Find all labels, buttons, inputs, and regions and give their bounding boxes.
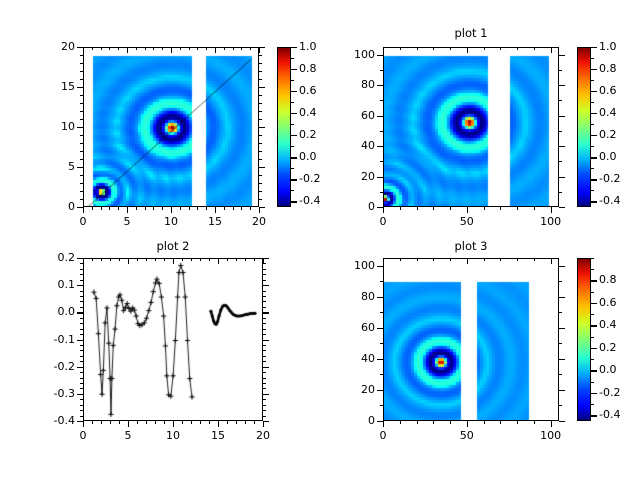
axis-tick	[80, 151, 83, 152]
axis-tick	[80, 410, 83, 411]
axis-tick	[80, 350, 83, 351]
colorbar-tick-label: -0.2	[599, 172, 620, 185]
axis-tick	[400, 47, 401, 50]
axis-tick	[119, 421, 120, 424]
axis-tick	[380, 281, 383, 282]
axis-tick	[591, 113, 594, 114]
axis-tick	[591, 258, 594, 259]
axis-tick	[517, 421, 518, 424]
axis-tick	[591, 280, 594, 281]
axis-tick	[146, 421, 147, 424]
axis-tick	[259, 143, 262, 144]
axis-tick	[209, 258, 210, 261]
axis-tick	[259, 151, 262, 152]
axis-tick	[263, 416, 266, 417]
axis-tick	[380, 100, 383, 101]
colorbar-tick-label: 0.8	[599, 273, 617, 286]
axis-tick	[80, 71, 83, 72]
colorbar-tick-label: 0.0	[299, 150, 317, 163]
axis-tick	[263, 383, 266, 384]
axis-tick	[291, 157, 294, 158]
axis-tick	[380, 131, 383, 132]
axis-tick	[101, 207, 102, 210]
axis-tick	[291, 190, 294, 191]
y-tick-label: 60	[331, 109, 375, 122]
x-tick-label: 0	[363, 429, 403, 442]
axis-tick	[259, 175, 262, 176]
axis-tick	[80, 111, 83, 112]
axis-tick	[433, 47, 434, 50]
axis-tick	[263, 410, 266, 411]
axis-tick	[80, 191, 83, 192]
axis-tick	[559, 116, 565, 117]
axis-tick	[263, 345, 266, 346]
axis-tick	[500, 207, 501, 210]
plot1-title: plot 1	[383, 26, 559, 40]
axis-tick	[80, 103, 83, 104]
axis-tick	[109, 47, 110, 50]
axis-tick	[236, 421, 237, 424]
axis-tick	[162, 47, 163, 50]
colorbar-tick-label: 0.4	[299, 106, 317, 119]
axis-tick	[218, 421, 219, 427]
axis-tick	[559, 374, 562, 375]
axis-tick	[171, 47, 172, 53]
axis-tick	[259, 95, 262, 96]
axis-tick	[591, 58, 594, 59]
plot3-axes[interactable]	[383, 258, 559, 421]
axis-tick	[83, 421, 84, 427]
axis-tick	[254, 421, 255, 424]
axis-tick	[83, 258, 84, 264]
axis-tick	[450, 47, 451, 50]
x-tick-label: 0	[63, 429, 103, 442]
axis-tick	[559, 192, 562, 193]
x-tick-label: 5	[108, 429, 148, 442]
axis-tick	[77, 207, 83, 208]
axis-tick	[484, 421, 485, 424]
axis-tick	[145, 47, 146, 50]
y-tick-label: 15	[31, 80, 75, 93]
axis-tick	[145, 207, 146, 210]
axis-tick	[80, 143, 83, 144]
axis-tick	[110, 258, 111, 261]
axis-tick	[377, 390, 383, 391]
axis-tick	[559, 100, 562, 101]
panel-plot0: 0510152005101520 -0.4-0.20.00.20.40.60.8…	[0, 0, 320, 240]
axis-tick	[484, 47, 485, 50]
axis-tick	[450, 207, 451, 210]
axis-tick	[559, 297, 565, 298]
axis-tick	[109, 207, 110, 210]
colorbar-tick-label: 0.8	[299, 62, 317, 75]
colorbar-tick-label: -0.2	[599, 386, 620, 399]
axis-tick	[263, 378, 266, 379]
axis-tick	[591, 292, 594, 293]
y-tick-label: -0.2	[31, 360, 75, 373]
x-tick-label: 20	[239, 215, 279, 228]
axis-tick	[146, 258, 147, 261]
axis-tick	[259, 103, 262, 104]
axis-tick	[380, 405, 383, 406]
plot3-heatmap-image	[384, 259, 559, 421]
axis-tick	[263, 405, 266, 406]
axis-tick	[559, 390, 565, 391]
axis-tick	[119, 258, 120, 261]
colorbar-tick-label: 0.2	[299, 128, 317, 141]
axis-tick	[591, 69, 594, 70]
axis-tick	[128, 421, 129, 427]
colorbar-tick-label: 0.6	[599, 296, 617, 309]
y-tick-label: 20	[31, 40, 75, 53]
axis-tick	[591, 146, 594, 147]
axis-tick	[377, 55, 383, 56]
axis-tick	[80, 280, 83, 281]
axis-tick	[80, 345, 83, 346]
axis-tick	[127, 207, 128, 213]
axis-tick	[591, 135, 594, 136]
axis-tick	[263, 350, 266, 351]
axis-tick	[551, 258, 552, 264]
axis-tick	[263, 280, 266, 281]
axis-tick	[263, 372, 266, 373]
y-tick-label: 80	[331, 78, 375, 91]
axis-tick	[591, 404, 594, 405]
axis-tick	[263, 258, 269, 259]
axis-tick	[259, 167, 265, 168]
y-tick-label: 80	[331, 290, 375, 303]
plot0-colorbar[interactable]	[277, 47, 291, 207]
axis-tick	[591, 190, 594, 191]
axis-tick	[591, 303, 594, 304]
axis-tick	[263, 307, 266, 308]
axis-tick	[500, 258, 501, 261]
axis-tick	[224, 207, 225, 210]
axis-tick	[291, 58, 294, 59]
axis-tick	[259, 79, 262, 80]
axis-tick	[450, 258, 451, 261]
axis-tick	[559, 207, 565, 208]
axis-tick	[80, 334, 83, 335]
axis-tick	[233, 207, 234, 210]
plot1-axes[interactable]	[383, 47, 559, 207]
axis-tick	[101, 258, 102, 261]
y-tick-label: -0.3	[31, 387, 75, 400]
x-tick-label: 50	[447, 429, 487, 442]
axis-tick	[245, 421, 246, 424]
axis-tick	[591, 314, 594, 315]
colorbar-tick-label: -0.4	[599, 194, 620, 207]
axis-tick	[233, 47, 234, 50]
axis-tick	[263, 291, 266, 292]
axis-tick	[197, 47, 198, 50]
axis-tick	[153, 47, 154, 50]
axis-tick	[259, 55, 262, 56]
axis-tick	[259, 87, 265, 88]
axis-tick	[189, 47, 190, 50]
axis-tick	[80, 405, 83, 406]
axis-tick	[236, 258, 237, 261]
axis-tick	[559, 312, 562, 313]
axis-tick	[180, 47, 181, 50]
axis-tick	[263, 323, 266, 324]
axis-tick	[377, 297, 383, 298]
plot0-axes[interactable]	[83, 47, 259, 207]
axis-tick	[417, 421, 418, 424]
x-tick-label: 15	[198, 429, 238, 442]
axis-tick	[80, 159, 83, 160]
plot3-title: plot 3	[383, 239, 559, 253]
axis-tick	[80, 378, 83, 379]
axis-tick	[137, 258, 138, 261]
axis-tick	[591, 124, 594, 125]
axis-tick	[263, 269, 266, 270]
axis-tick	[155, 258, 156, 261]
axis-tick	[551, 421, 552, 427]
axis-tick	[227, 258, 228, 261]
axis-tick	[92, 258, 93, 261]
axis-tick	[383, 207, 384, 213]
axis-tick	[263, 274, 266, 275]
axis-tick	[259, 47, 265, 48]
axis-tick	[259, 111, 262, 112]
plot3-colorbar[interactable]	[577, 258, 591, 421]
axis-tick	[383, 47, 384, 53]
y-tick-label: 100	[331, 48, 375, 61]
axis-tick	[263, 399, 266, 400]
figure-canvas: 0510152005101520 -0.4-0.20.00.20.40.60.8…	[0, 0, 640, 480]
axis-tick	[80, 372, 83, 373]
axis-tick	[534, 421, 535, 424]
colorbar-tick-label: -0.4	[599, 408, 620, 421]
axis-tick	[591, 337, 594, 338]
plot2-axes[interactable]	[83, 258, 263, 421]
axis-tick	[591, 168, 594, 169]
axis-tick	[559, 266, 565, 267]
axis-tick	[164, 258, 165, 261]
axis-tick	[206, 207, 207, 210]
axis-tick	[484, 258, 485, 261]
axis-tick	[80, 361, 83, 362]
colorbar-tick-label: 0.6	[299, 84, 317, 97]
axis-tick	[559, 405, 562, 406]
y-tick-label: 100	[331, 259, 375, 272]
x-tick-label: 0	[363, 215, 403, 228]
axis-tick	[559, 85, 565, 86]
axis-tick	[291, 102, 294, 103]
axis-tick	[380, 343, 383, 344]
axis-tick	[80, 199, 83, 200]
x-tick-label: 50	[447, 215, 487, 228]
axis-tick	[291, 47, 294, 48]
axis-tick	[591, 102, 594, 103]
axis-tick	[80, 269, 83, 270]
axis-tick	[377, 146, 383, 147]
axis-tick	[263, 329, 266, 330]
axis-tick	[291, 179, 294, 180]
axis-tick	[263, 285, 269, 286]
axis-tick	[433, 421, 434, 424]
plot2-title: plot 2	[83, 239, 263, 253]
colorbar-tick-label: 0.0	[599, 150, 617, 163]
axis-tick	[291, 201, 294, 202]
axis-tick	[534, 47, 535, 50]
axis-tick	[377, 359, 383, 360]
axis-tick	[80, 388, 83, 389]
axis-tick	[263, 388, 266, 389]
axis-tick	[551, 207, 552, 213]
axis-tick	[383, 421, 384, 427]
y-tick-label: 0	[31, 200, 75, 213]
axis-tick	[591, 157, 594, 158]
axis-tick	[450, 421, 451, 424]
axis-tick	[263, 394, 269, 395]
axis-tick	[400, 258, 401, 261]
colorbar-tick-label: 0.0	[599, 363, 617, 376]
colorbar-tick-label: 0.2	[599, 341, 617, 354]
axis-tick	[162, 207, 163, 210]
axis-tick	[291, 135, 294, 136]
colorbar-tick-label: 0.8	[599, 62, 617, 75]
axis-tick	[559, 328, 565, 329]
axis-tick	[380, 161, 383, 162]
axis-tick	[551, 47, 552, 53]
axis-tick	[380, 192, 383, 193]
plot1-colorbar[interactable]	[577, 47, 591, 207]
axis-tick	[218, 258, 219, 264]
axis-tick	[206, 47, 207, 50]
y-tick-label: 60	[331, 321, 375, 334]
axis-tick	[591, 47, 594, 48]
axis-tick	[591, 91, 594, 92]
x-tick-label: 100	[531, 429, 571, 442]
axis-tick	[259, 127, 265, 128]
axis-tick	[263, 296, 266, 297]
axis-tick	[191, 421, 192, 424]
axis-tick	[517, 47, 518, 50]
axis-tick	[534, 258, 535, 261]
y-tick-label: 0	[331, 200, 375, 213]
axis-tick	[467, 258, 468, 264]
axis-tick	[263, 334, 266, 335]
axis-tick	[80, 274, 83, 275]
x-tick-label: 15	[195, 215, 235, 228]
axis-tick	[291, 124, 294, 125]
axis-tick	[259, 63, 262, 64]
x-tick-label: 5	[107, 215, 147, 228]
axis-tick	[417, 258, 418, 261]
axis-tick	[534, 207, 535, 210]
colorbar-tick-label: 0.4	[599, 318, 617, 331]
axis-tick	[77, 87, 83, 88]
axis-tick	[291, 69, 294, 70]
axis-tick	[77, 127, 83, 128]
axis-tick	[559, 146, 565, 147]
y-tick-label: 0	[331, 414, 375, 427]
y-tick-label: 5	[31, 160, 75, 173]
axis-tick	[377, 116, 383, 117]
axis-tick	[77, 367, 83, 368]
axis-tick	[77, 394, 83, 395]
axis-tick	[80, 183, 83, 184]
axis-tick	[110, 421, 111, 424]
axis-tick	[80, 383, 83, 384]
axis-tick	[180, 207, 181, 210]
axis-tick	[80, 318, 83, 319]
axis-tick	[591, 393, 594, 394]
axis-tick	[173, 421, 174, 427]
colorbar-tick-label: 0.6	[599, 84, 617, 97]
colorbar-tick-label: -0.4	[299, 194, 320, 207]
axis-tick	[377, 177, 383, 178]
axis-tick	[263, 421, 269, 422]
x-tick-label: 10	[153, 429, 193, 442]
axis-tick	[227, 421, 228, 424]
axis-tick	[153, 207, 154, 210]
x-tick-label: 10	[151, 215, 191, 228]
axis-tick	[191, 258, 192, 261]
axis-tick	[559, 359, 565, 360]
axis-tick	[259, 159, 262, 160]
axis-tick	[250, 207, 251, 210]
axis-tick	[591, 179, 594, 180]
axis-tick	[400, 207, 401, 210]
y-tick-label: -0.4	[31, 414, 75, 427]
colorbar-tick-label: -0.2	[299, 172, 320, 185]
axis-tick	[263, 361, 266, 362]
axis-tick	[291, 113, 294, 114]
axis-tick	[259, 135, 262, 136]
axis-tick	[77, 340, 83, 341]
y-tick-label: 40	[331, 352, 375, 365]
colorbar-tick-label: 0.4	[599, 106, 617, 119]
axis-tick	[259, 119, 262, 120]
y-tick-label: 20	[331, 383, 375, 396]
axis-tick	[254, 258, 255, 261]
axis-tick	[259, 191, 262, 192]
x-tick-label: 20	[243, 429, 283, 442]
axis-tick	[241, 207, 242, 210]
axis-tick	[291, 91, 294, 92]
axis-tick	[80, 63, 83, 64]
axis-tick	[200, 258, 201, 261]
axis-tick	[80, 95, 83, 96]
axis-tick	[500, 47, 501, 50]
axis-tick	[263, 312, 269, 313]
axis-tick	[559, 177, 565, 178]
axis-tick	[250, 47, 251, 50]
axis-tick	[291, 146, 294, 147]
axis-tick	[200, 421, 201, 424]
axis-tick	[380, 312, 383, 313]
y-tick-label: -0.1	[31, 333, 75, 346]
axis-tick	[591, 269, 594, 270]
axis-tick	[377, 421, 383, 422]
y-tick-label: 0.2	[31, 251, 75, 264]
axis-tick	[80, 416, 83, 417]
axis-tick	[77, 167, 83, 168]
axis-tick	[291, 168, 294, 169]
axis-tick	[591, 348, 594, 349]
axis-tick	[92, 47, 93, 50]
axis-tick	[383, 258, 384, 264]
axis-tick	[400, 421, 401, 424]
axis-tick	[417, 207, 418, 210]
axis-tick	[259, 71, 262, 72]
y-tick-label: 40	[331, 139, 375, 152]
axis-tick	[263, 356, 266, 357]
axis-tick	[80, 79, 83, 80]
